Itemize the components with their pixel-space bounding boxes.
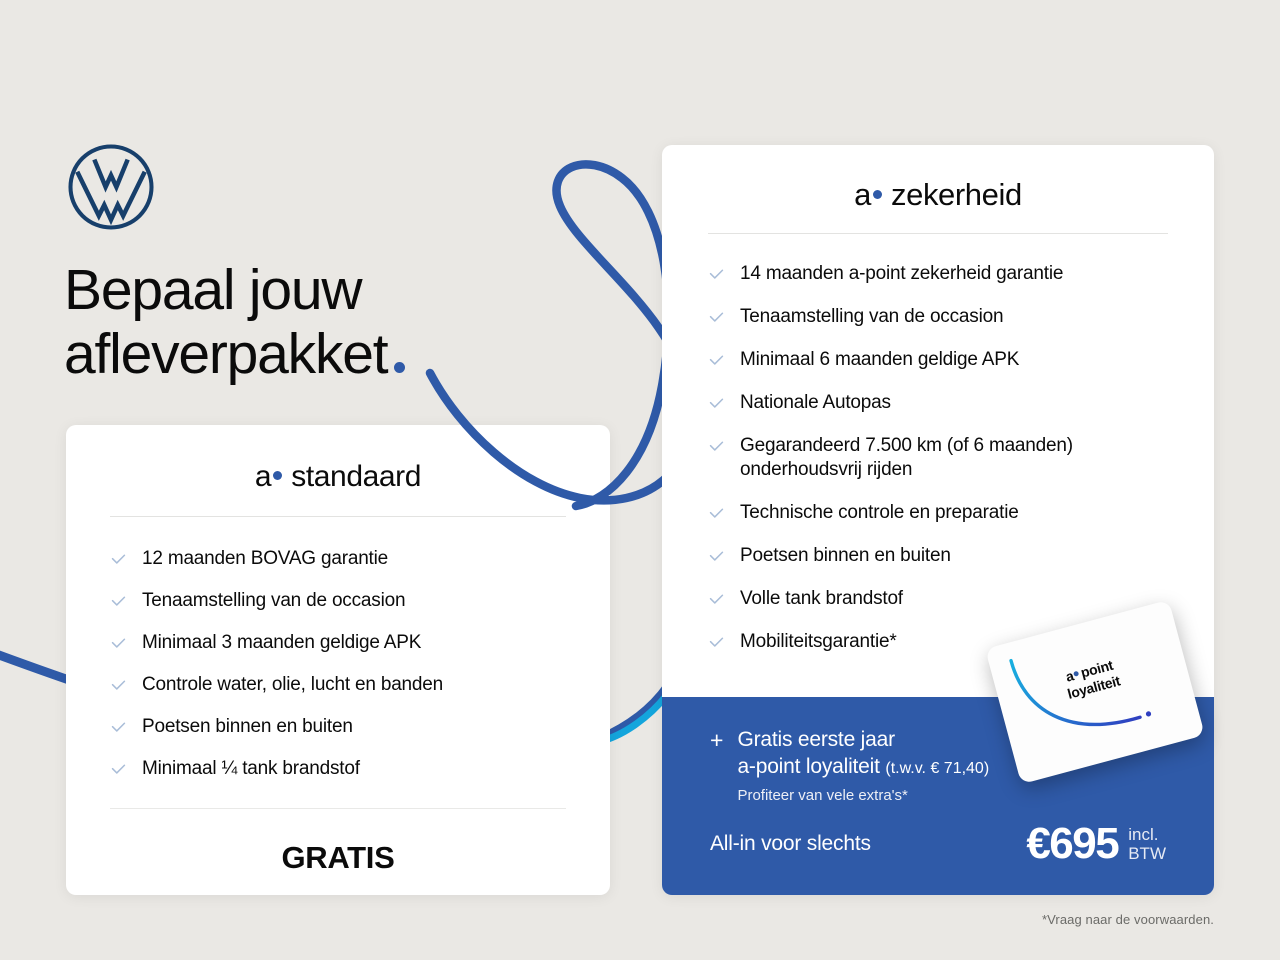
check-icon (708, 352, 725, 369)
list-item-label: Gegarandeerd 7.500 km (of 6 maanden) ond… (740, 434, 1168, 482)
list-item-label: Minimaal 3 maanden geldige APK (142, 631, 566, 655)
feature-list-standaard: 12 maanden BOVAG garantie Tenaamstelling… (66, 517, 610, 781)
bonus-subtext: Profiteer van vele extra's* (737, 785, 989, 807)
bonus-line2: a-point loyaliteit (737, 755, 879, 778)
list-item: Minimaal 6 maanden geldige APK (708, 348, 1168, 372)
list-item-label: Minimaal 6 maanden geldige APK (740, 348, 1168, 372)
check-icon (708, 438, 725, 455)
check-icon (708, 309, 725, 326)
price-group: €695 incl. BTW (1026, 822, 1166, 866)
card-title-text: standaard (291, 460, 421, 493)
brand-dot-icon (873, 190, 882, 199)
check-icon (708, 505, 725, 522)
price-note: incl. BTW (1128, 825, 1166, 863)
list-item: 14 maanden a-point zekerheid garantie (708, 262, 1168, 286)
feature-list-zekerheid: 14 maanden a-point zekerheid garantie Te… (662, 234, 1214, 654)
list-item: Minimaal 3 maanden geldige APK (110, 631, 566, 655)
check-icon (708, 634, 725, 651)
card-title-text: zekerheid (891, 177, 1022, 212)
bonus-line1: Gratis eerste jaar (737, 727, 989, 753)
plus-icon: + (710, 727, 723, 753)
check-icon (708, 266, 725, 283)
list-item: Tenaamstelling van de occasion (708, 305, 1168, 329)
page-title: Bepaal jouw afleverpakket (64, 258, 405, 386)
list-item-label: Controle water, olie, lucht en banden (142, 673, 566, 697)
list-item: 12 maanden BOVAG garantie (110, 547, 566, 571)
check-icon (110, 551, 127, 568)
page-title-line1: Bepaal jouw (64, 258, 405, 322)
list-item: Technische controle en preparatie (708, 501, 1168, 525)
card-title-prefix: a (854, 177, 871, 212)
list-item: Tenaamstelling van de occasion (110, 589, 566, 613)
allin-price-row: All-in voor slechts €695 incl. BTW (710, 822, 1166, 866)
price-note-line2: BTW (1128, 844, 1166, 863)
price-value: €695 (1026, 822, 1118, 866)
check-icon (110, 719, 127, 736)
volkswagen-logo-icon (66, 142, 156, 232)
card-bottom-divider (110, 808, 566, 809)
brand-dot-icon (1074, 671, 1080, 677)
check-icon (708, 548, 725, 565)
list-item-label: Poetsen binnen en buiten (142, 715, 566, 739)
package-card-zekerheid[interactable]: azekerheid 14 maanden a-point zekerheid … (662, 145, 1214, 895)
check-icon (110, 761, 127, 778)
check-icon (708, 591, 725, 608)
brand-dot-icon (273, 471, 282, 480)
bonus-value: (t.w.v. € 71,40) (885, 760, 989, 777)
list-item-label: 14 maanden a-point zekerheid garantie (740, 262, 1168, 286)
allin-label: All-in voor slechts (710, 832, 871, 856)
bonus-row: + Gratis eerste jaar a-point loyaliteit … (710, 727, 989, 807)
loyalty-prefix: a (1064, 667, 1075, 684)
list-item: Gegarandeerd 7.500 km (of 6 maanden) ond… (708, 434, 1168, 482)
list-item-label: Technische controle en preparatie (740, 501, 1168, 525)
list-item-label: Minimaal ¼ tank brandstof (142, 757, 566, 781)
card-title-zekerheid: azekerheid (662, 145, 1214, 213)
card-title-standaard: astandaard (66, 425, 610, 494)
check-icon (110, 677, 127, 694)
promo-page: Bepaal jouw afleverpakket astandaard 12 … (0, 0, 1280, 960)
page-title-line2: afleverpakket (64, 322, 387, 386)
price-note-line1: incl. (1128, 825, 1166, 844)
title-accent-dot-icon (394, 362, 405, 373)
check-icon (110, 593, 127, 610)
card-title-prefix: a (255, 460, 271, 493)
price-label-standaard: GRATIS (66, 840, 610, 876)
list-item-label: 12 maanden BOVAG garantie (142, 547, 566, 571)
footnote: *Vraag naar de voorwaarden. (1042, 912, 1214, 927)
list-item-label: Volle tank brandstof (740, 587, 1168, 611)
list-item-label: Tenaamstelling van de occasion (740, 305, 1168, 329)
list-item: Nationale Autopas (708, 391, 1168, 415)
list-item: Volle tank brandstof (708, 587, 1168, 611)
check-icon (708, 395, 725, 412)
list-item-label: Poetsen binnen en buiten (740, 544, 1168, 568)
check-icon (110, 635, 127, 652)
list-item-label: Tenaamstelling van de occasion (142, 589, 566, 613)
list-item: Poetsen binnen en buiten (110, 715, 566, 739)
list-item: Minimaal ¼ tank brandstof (110, 757, 566, 781)
list-item: Controle water, olie, lucht en banden (110, 673, 566, 697)
list-item-label: Nationale Autopas (740, 391, 1168, 415)
list-item: Poetsen binnen en buiten (708, 544, 1168, 568)
package-card-standaard[interactable]: astandaard 12 maanden BOVAG garantie Ten… (66, 425, 610, 895)
